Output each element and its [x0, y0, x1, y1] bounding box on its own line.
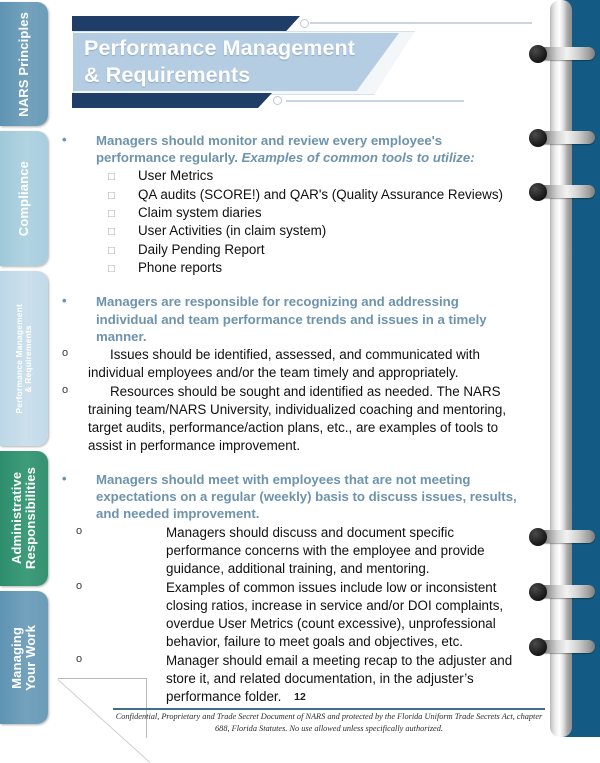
circle-bullet-icon: o	[62, 346, 68, 361]
sidebar-item-label: NARS Principles	[17, 12, 31, 117]
banner-rule-top	[310, 22, 532, 24]
list-item-label: User Activities (in claim system)	[138, 222, 326, 240]
list-item: □QA audits (SCORE!) and QAR's (Quality A…	[108, 186, 522, 204]
sub-item: o Examples of common issues include low …	[62, 579, 522, 651]
checkbox-icon[interactable]: □	[108, 262, 138, 277]
spacer	[62, 455, 522, 471]
sidebar-item-administrative-responsibilities[interactable]: Administrative Responsibilities	[0, 451, 48, 586]
banner-bar-top	[72, 16, 300, 31]
sidebar-tab-strip: NARS Principles Compliance Performance M…	[0, 0, 48, 737]
sidebar-item-performance-management-requirements[interactable]: Performance Management & Requirements	[0, 271, 48, 446]
sub-item-label: Managers should discuss and document spe…	[136, 524, 522, 578]
binder-ring	[531, 585, 595, 598]
checkbox-icon[interactable]: □	[108, 207, 138, 222]
list-item-label: Daily Pending Report	[138, 241, 265, 259]
binder-ring	[531, 640, 595, 653]
bullet-paragraph: • Managers should monitor and review eve…	[62, 132, 522, 166]
footer-confidentiality-note: Confidential, Proprietary and Trade Secr…	[113, 711, 545, 734]
binder-ring	[531, 131, 595, 144]
sub-item: o Resources should be sought and identif…	[62, 383, 522, 455]
checklist: □User Metrics □QA audits (SCORE!) and QA…	[62, 167, 522, 277]
bullet-paragraph: • Managers are responsible for recognizi…	[62, 293, 522, 344]
binder-spine	[550, 0, 572, 737]
sidebar-item-label: Administrative Responsibilities	[10, 467, 38, 569]
bullet-icon: •	[62, 132, 96, 166]
sub-item-label: Examples of common issues include low or…	[136, 579, 522, 651]
sub-item-label: Resources should be sought and identifie…	[88, 383, 522, 455]
list-item-label: User Metrics	[138, 167, 213, 185]
bullet-text: Managers are responsible for recognizing…	[96, 293, 522, 344]
sidebar-item-label: Managing Your Work	[10, 625, 38, 691]
bullet-icon: •	[62, 293, 96, 344]
sidebar-item-label: Performance Management & Requirements	[15, 304, 33, 414]
bullet-text-italic: Examples of common tools to utilize:	[242, 150, 475, 165]
banner-rule-bottom	[286, 100, 464, 102]
sidebar-item-nars-principles[interactable]: NARS Principles	[0, 2, 48, 126]
sidebar-item-label: Compliance	[17, 161, 31, 236]
page-title: Performance Management & Requirements	[84, 33, 404, 91]
sub-item: o Issues should be identified, assessed,…	[62, 346, 522, 382]
bullet-text: Managers should monitor and review every…	[96, 132, 522, 166]
list-item-label: Claim system diaries	[138, 204, 262, 222]
list-item: □Claim system diaries	[108, 204, 522, 222]
list-item: □User Metrics	[108, 167, 522, 185]
bullet-text: Managers should meet with employees that…	[96, 471, 522, 522]
binder-ring	[531, 185, 595, 198]
content-block: • Managers are responsible for recognizi…	[62, 293, 522, 455]
checkbox-icon[interactable]: □	[108, 189, 138, 204]
checkbox-icon[interactable]: □	[108, 225, 138, 240]
binder-ring	[531, 47, 595, 60]
sub-item-label: Issues should be identified, assessed, a…	[88, 346, 522, 382]
list-item-label: QA audits (SCORE!) and QAR's (Quality As…	[138, 186, 503, 204]
list-item: □Phone reports	[108, 259, 522, 277]
checkbox-icon[interactable]: □	[108, 244, 138, 259]
list-item: □User Activities (in claim system)	[108, 222, 522, 240]
slide-body: • Managers should monitor and review eve…	[62, 132, 522, 706]
list-item: □Daily Pending Report	[108, 241, 522, 259]
banner-bar-bottom	[72, 93, 272, 108]
slide-page: NARS Principles Compliance Performance M…	[0, 0, 600, 737]
sub-item: o Managers should discuss and document s…	[62, 524, 522, 578]
content-block: • Managers should meet with employees th…	[62, 471, 522, 706]
bullet-icon: •	[62, 471, 96, 522]
bullet-paragraph: • Managers should meet with employees th…	[62, 471, 522, 522]
page-number: 12	[0, 691, 600, 703]
banner-dot-top-icon	[300, 19, 309, 28]
binder-ring	[531, 530, 595, 543]
circle-bullet-icon: o	[62, 383, 68, 398]
checkbox-icon[interactable]: □	[108, 170, 138, 185]
spacer	[62, 277, 522, 293]
page-title-banner: Performance Management & Requirements	[72, 16, 432, 108]
footer-divider	[113, 708, 545, 710]
list-item-label: Phone reports	[138, 259, 222, 277]
sidebar-item-managing-your-work[interactable]: Managing Your Work	[0, 591, 48, 724]
sidebar-item-compliance[interactable]: Compliance	[0, 131, 48, 266]
content-block: • Managers should monitor and review eve…	[62, 132, 522, 277]
banner-dot-bottom-icon	[273, 96, 282, 105]
